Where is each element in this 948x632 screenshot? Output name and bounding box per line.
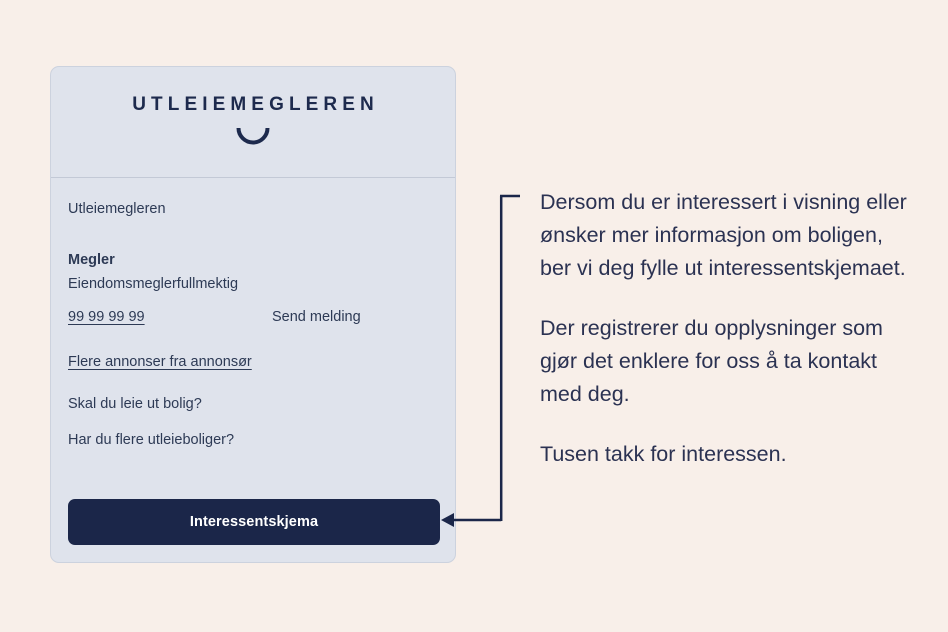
- contact-row: 99 99 99 99 Send melding: [68, 308, 438, 328]
- agent-role-subtitle: Eiendomsmeglerfullmektig: [68, 275, 438, 295]
- rent-out-property-link[interactable]: Skal du leie ut bolig?: [68, 395, 438, 415]
- agent-phone-link[interactable]: 99 99 99 99: [68, 308, 272, 328]
- agent-contact-card: UTLEIEMEGLEREN Utleiemegleren Megler Eie…: [50, 66, 456, 563]
- callout-text-block: Dersom du er interessert i visning eller…: [540, 186, 910, 471]
- callout-paragraph-3: Tusen takk for interessen.: [540, 438, 910, 471]
- callout-paragraph-2: Der registrerer du opplysninger som gjør…: [540, 312, 910, 411]
- card-body: Utleiemegleren Megler Eiendomsmeglerfull…: [51, 178, 455, 451]
- callout-paragraph-1: Dersom du er interessert i visning eller…: [540, 186, 910, 285]
- send-message-link[interactable]: Send melding: [272, 308, 361, 328]
- interest-form-button[interactable]: Interessentskjema: [68, 499, 440, 545]
- more-rental-properties-link[interactable]: Har du flere utleieboliger?: [68, 431, 438, 451]
- smile-arc-icon: [236, 127, 270, 145]
- more-ads-from-advertiser-link[interactable]: Flere annonser fra annonsør: [68, 353, 252, 373]
- card-header: UTLEIEMEGLEREN: [51, 67, 455, 178]
- agency-name: Utleiemegleren: [68, 200, 438, 220]
- brand-wordmark: UTLEIEMEGLEREN: [127, 95, 379, 114]
- agent-role-title: Megler: [68, 251, 438, 271]
